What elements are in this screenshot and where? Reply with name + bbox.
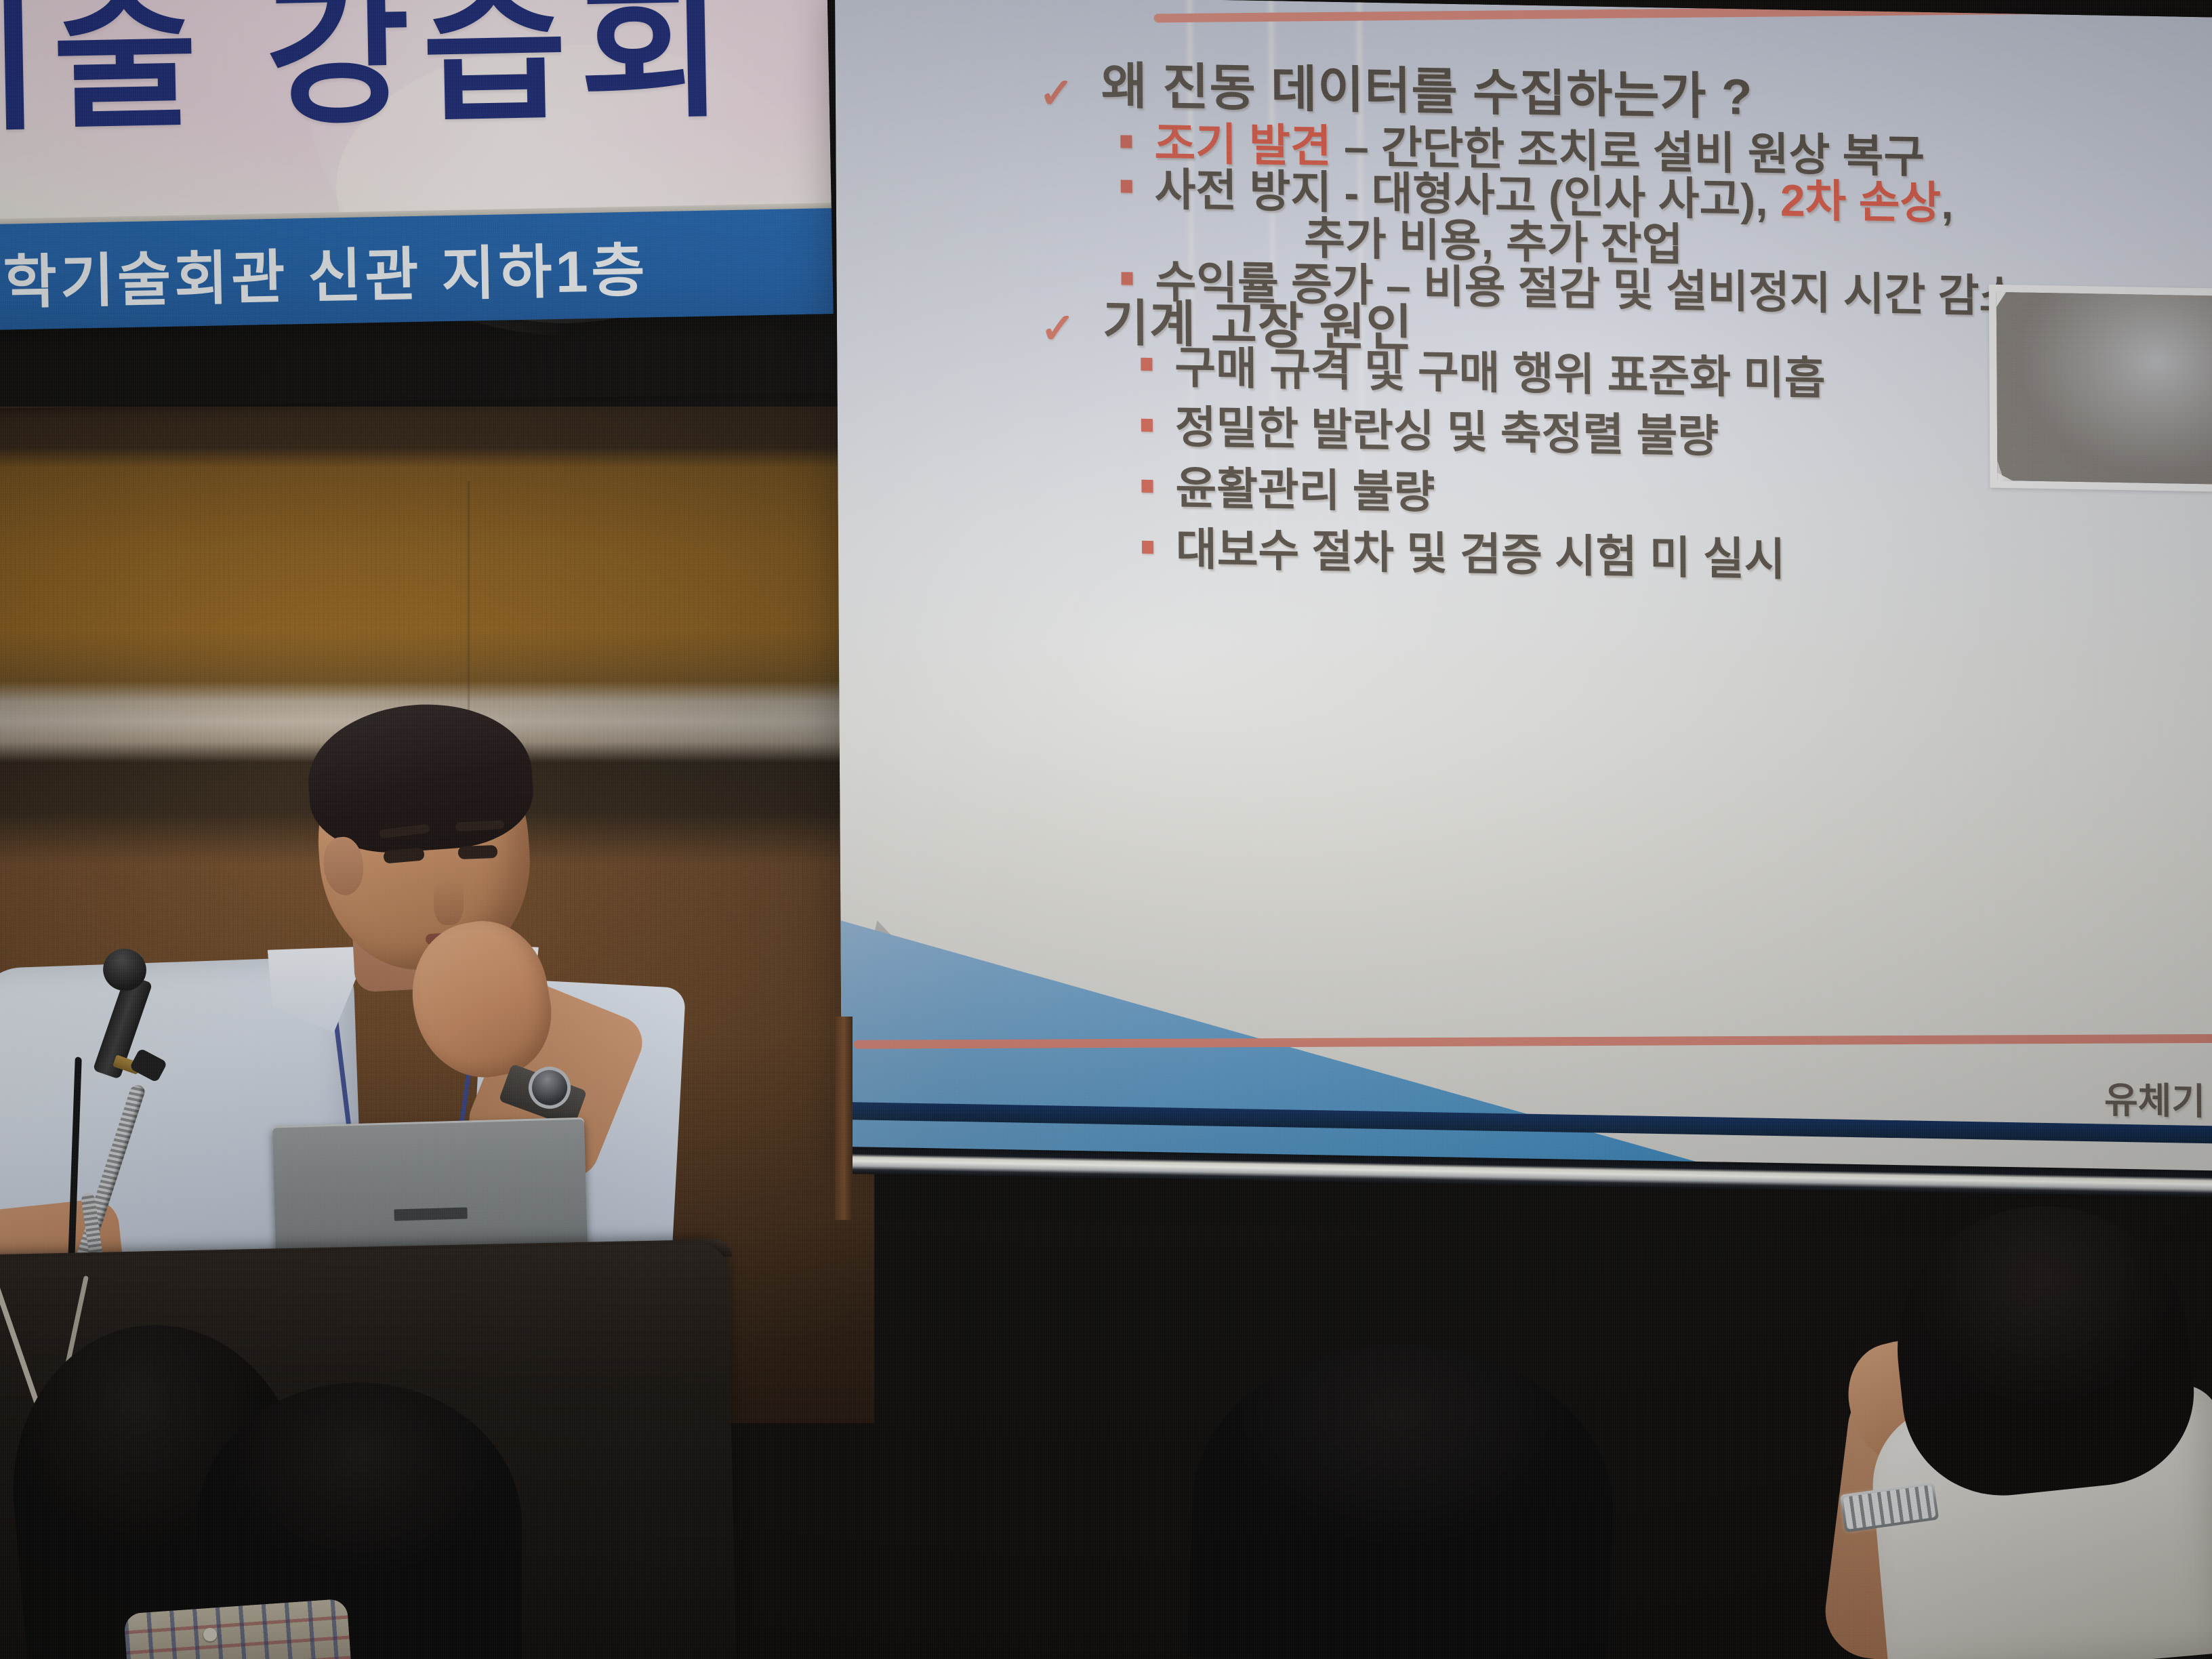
bullet-square-icon [1141,358,1152,371]
event-banner: 기술 강습회 과학기술회관 신관 지하1층 [0,0,835,409]
slide-bullet-2-3: 윤활관리 불량 [1175,452,1435,522]
slide-bullet-1-2-highlight: 2차 손상 [1780,175,1942,228]
slide-bullet-1-2-post: , [1941,178,1954,228]
laptop-brand-logo [394,1207,467,1221]
bullet-square-icon [1141,480,1153,493]
check-icon: ✓ [1039,68,1074,118]
slide-thumbnail-image [1989,285,2212,492]
audience-collar-button [203,1628,217,1641]
banner-title: 기술 강습회 [0,0,829,143]
slide-footer-text: 유체기 [2104,1069,2206,1125]
bullet-square-icon [1120,135,1132,148]
lecture-hall-photo: 기술 강습회 과학기술회관 신관 지하1층 ✓ 왜 진동 데이터를 수집하는가 … [0,0,2212,1659]
bullet-square-icon [1141,419,1153,432]
screen-side-post [835,1017,853,1220]
speaker-eye-right [458,845,498,859]
bullet-square-icon [1121,180,1132,192]
slide-thumbnail-content [1996,292,2212,485]
slide-bullet-2-4: 대보수 절차 및 검증 시험 미 실시 [1176,513,1786,589]
projection-screen: ✓ 왜 진동 데이터를 수집하는가 ? 조기 발견 – 간단한 조치로 설비 원… [835,0,2212,1190]
check-icon: ✓ [1040,303,1076,353]
banner-location-text: 과학기술회관 신관 지하1층 [0,209,821,331]
bullet-square-icon [1142,541,1153,554]
speaker-nose [434,878,464,925]
